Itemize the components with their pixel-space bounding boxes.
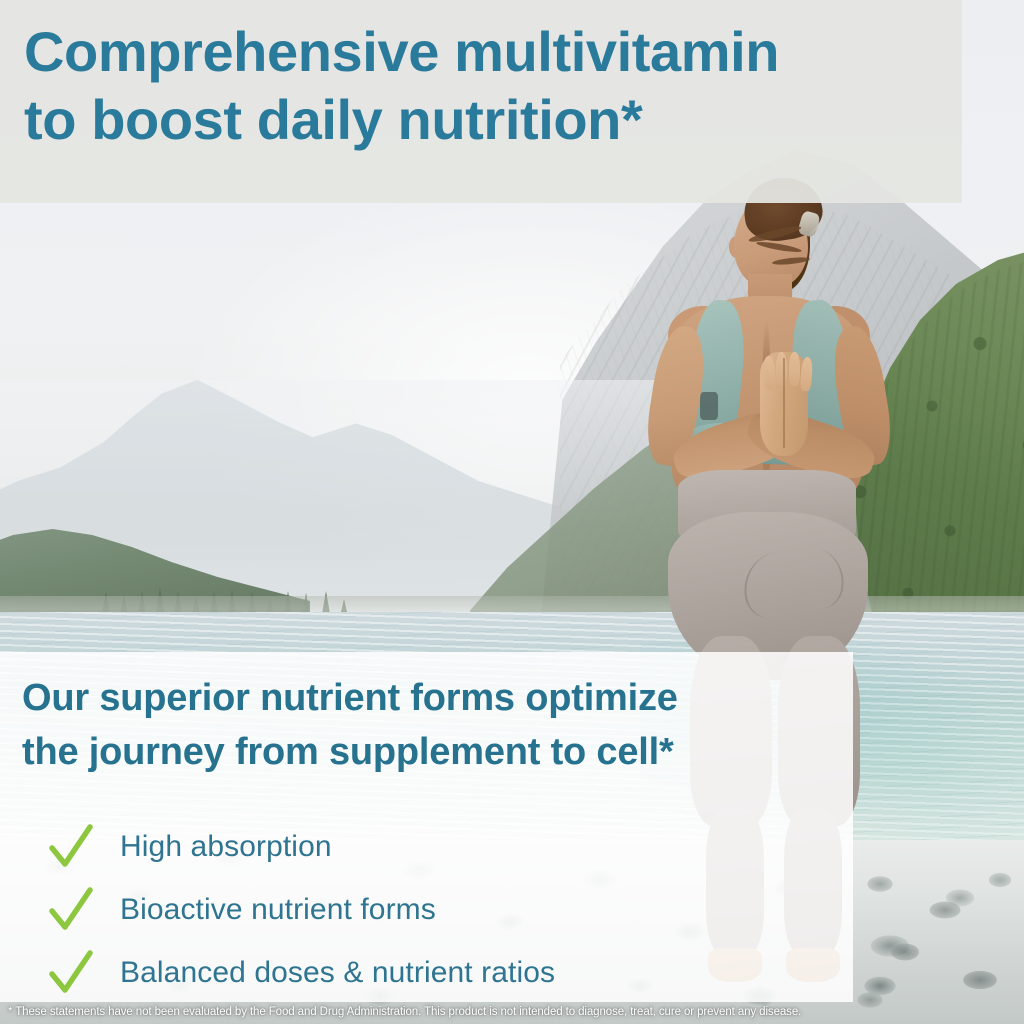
list-item-label: Balanced doses & nutrient ratios <box>120 956 555 990</box>
product-banner: Comprehensive multivitamin to boost dail… <box>0 0 1024 1024</box>
subheading: Our superior nutrient forms optimize the… <box>22 672 822 780</box>
palm-center-line <box>783 358 785 448</box>
sports-bra-clasp <box>700 392 718 420</box>
list-item-label: Bioactive nutrient forms <box>120 893 436 927</box>
check-icon <box>48 887 94 933</box>
check-icon <box>48 824 94 870</box>
fda-disclaimer: * These statements have not been evaluat… <box>0 1000 1024 1024</box>
check-icon <box>48 950 94 996</box>
list-item: Bioactive nutrient forms <box>48 878 788 941</box>
list-item: High absorption <box>48 815 788 878</box>
benefits-list: High absorption Bioactive nutrient forms… <box>48 815 788 1004</box>
page-title: Comprehensive multivitamin to boost dail… <box>24 18 954 155</box>
finger <box>776 352 787 386</box>
headline-panel: Comprehensive multivitamin to boost dail… <box>0 0 962 203</box>
list-item: Balanced doses & nutrient ratios <box>48 941 788 1004</box>
finger <box>789 352 800 386</box>
list-item-label: High absorption <box>120 830 332 864</box>
